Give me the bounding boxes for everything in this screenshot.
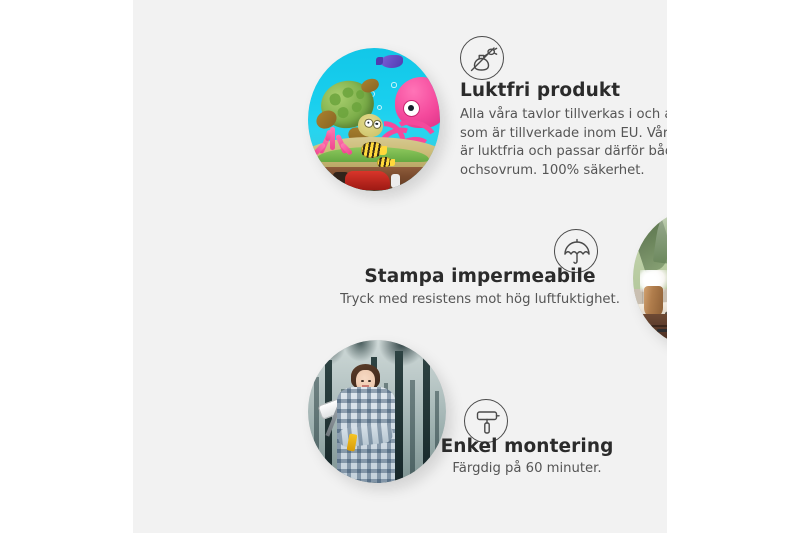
feature-heading: Luktfri produkt [460,80,667,101]
content-panel: Luktfri produkt Alla våra tavlor tillver… [133,0,667,533]
coral-shape [315,127,351,164]
no-odour-spray-bottle-icon [460,36,504,80]
feature-image-waterproof [633,208,667,348]
feature-image-odour-free [308,48,440,191]
feature-heading: Enkel montering [405,436,649,457]
feature-body: Tryck med resistens mot hög luftfuktighe… [339,291,621,310]
feature-heading: Stampa impermeabile [339,266,621,287]
product-benefits-page: Luktfri produkt Alla våra tavlor tillver… [0,0,800,533]
feature-text-odour-free: Luktfri produkt Alla våra tavlor tillver… [460,80,667,181]
feature-text-easy-assembly: Enkel montering Färgdig på 60 minuter. [405,436,649,479]
feature-body: Färgdig på 60 minuter. [405,460,649,479]
feature-body: Alla våra tavlor tillverkas i och av pro… [460,106,667,181]
feature-text-waterproof: Stampa impermeabile Tryck med resistens … [339,266,621,310]
